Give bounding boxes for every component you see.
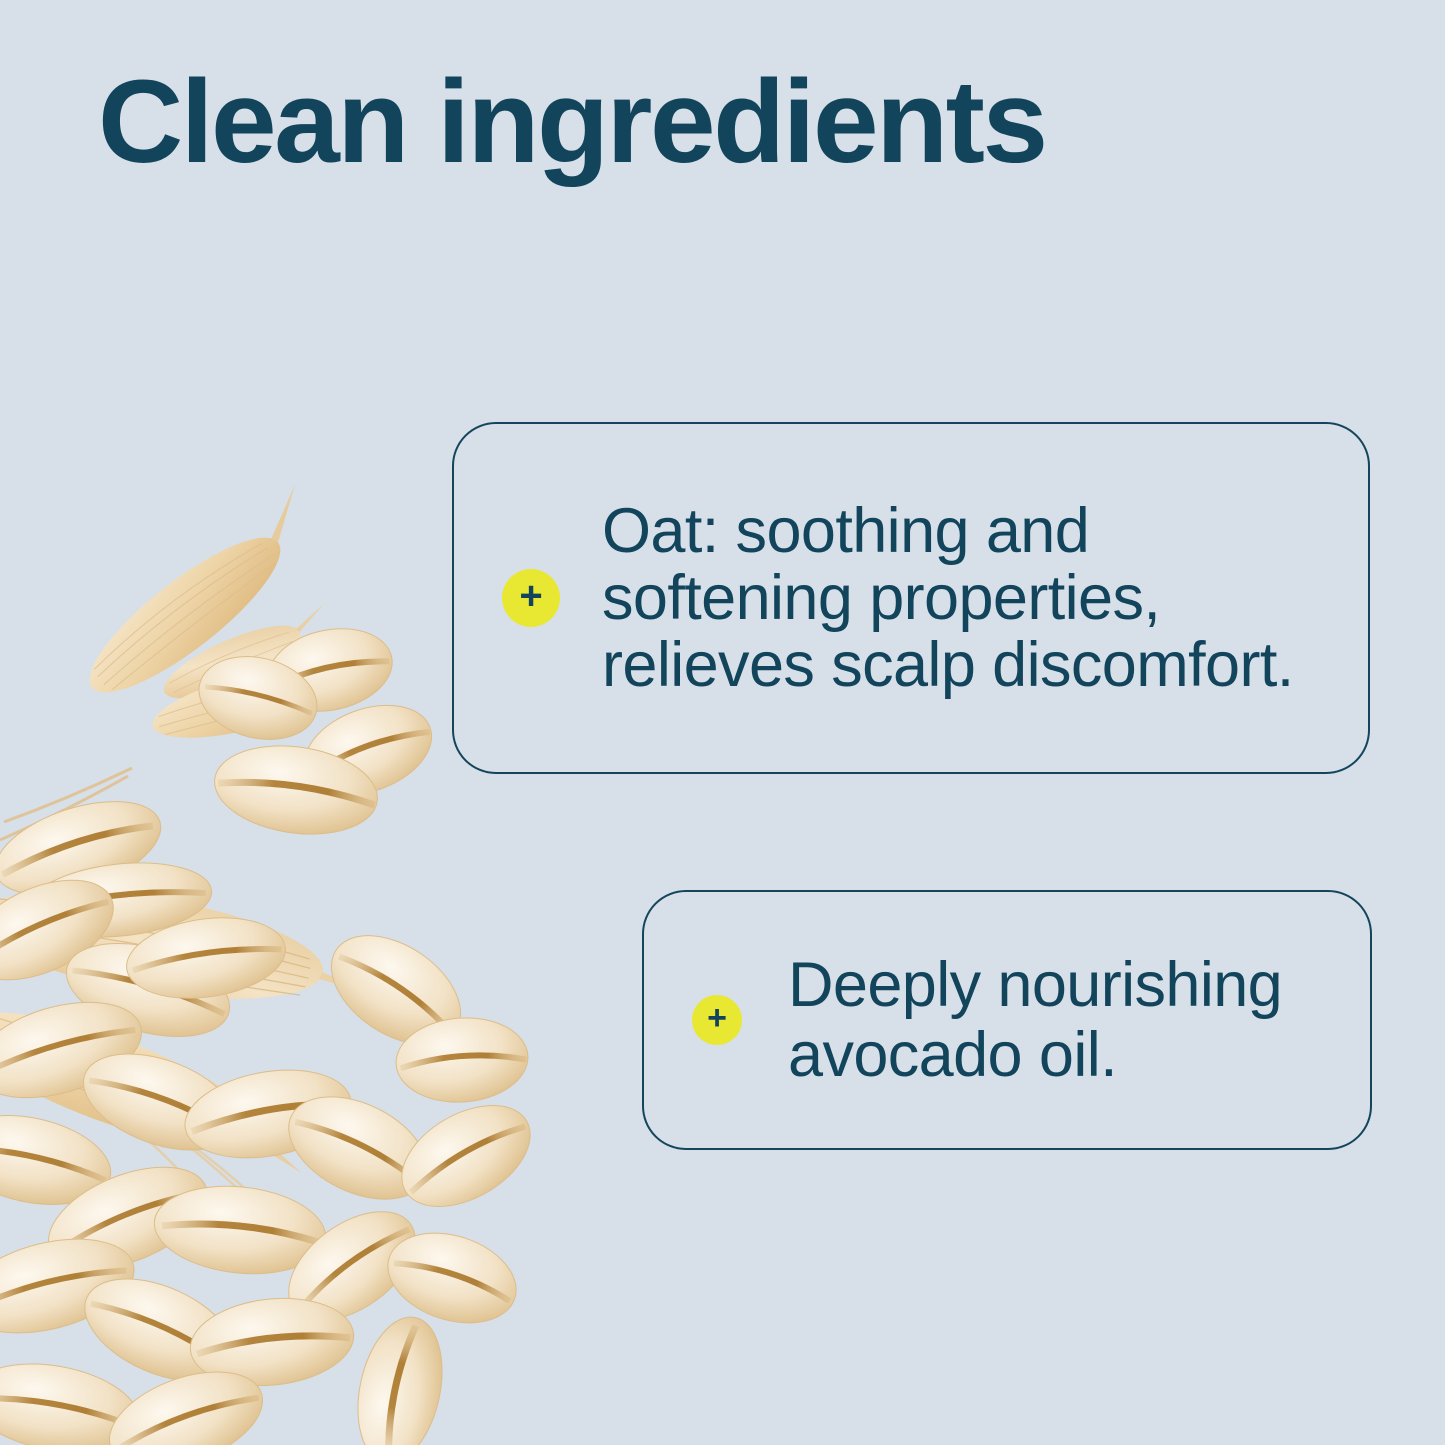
ingredient-card-avocado[interactable]: + Deeply nourishing avocado oil. [642,890,1372,1150]
plus-icon-glyph: + [707,1001,727,1035]
ingredient-card-oat[interactable]: + Oat: soothing and softening properties… [452,422,1370,774]
clean-ingredients-panel: Clean ingredients [0,0,1445,1445]
plus-icon: + [502,569,560,627]
oat-spikelet-cluster [0,485,400,1230]
ingredient-card-avocado-text: Deeply nourishing avocado oil. [788,950,1282,1090]
ingredient-card-oat-text: Oat: soothing and softening properties, … [602,498,1294,699]
page-title: Clean ingredients [98,63,1046,181]
plus-icon-glyph: + [519,576,542,616]
plus-icon: + [692,995,742,1045]
